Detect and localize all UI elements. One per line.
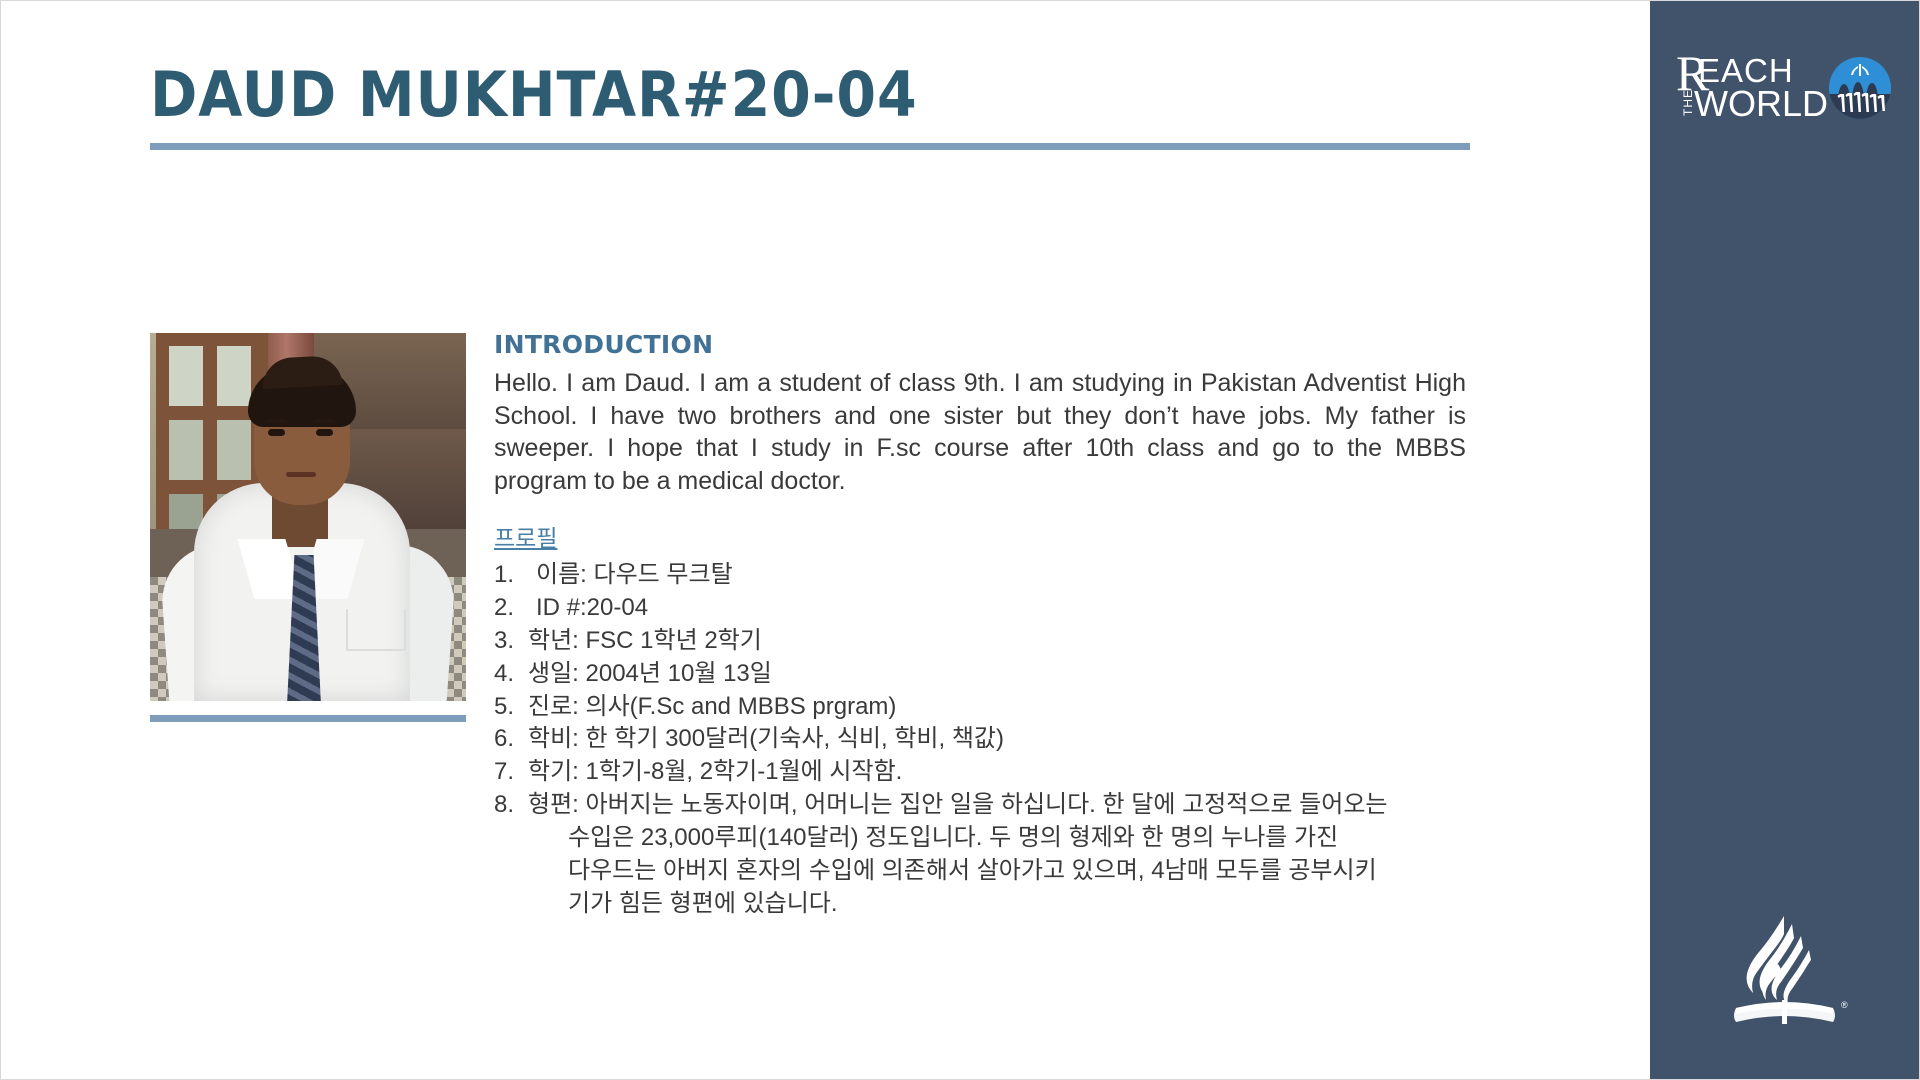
title-block: DAUD MUKHTAR#20-04: [150, 62, 1470, 150]
introduction-heading: INTRODUCTION: [494, 330, 1466, 359]
profile-item-number: 6.: [494, 723, 528, 756]
profile-list-item: 8.형편: 아버지는 노동자이며, 어머니는 집안 일을 하십니다. 한 달에 …: [494, 789, 1466, 822]
profile-item-number: 7.: [494, 756, 528, 789]
profile-item-number: 5.: [494, 691, 528, 724]
profile-item-number: 3.: [494, 625, 528, 658]
profile-item-text: ID #:20-04: [536, 592, 1466, 625]
photo-eye-left: [268, 429, 285, 436]
page-title: DAUD MUKHTAR#20-04: [150, 62, 1364, 127]
profile-item-text: 이름: 다우드 무크탈: [536, 559, 1466, 592]
profile-list-item: 1.이름: 다우드 무크탈: [494, 559, 1466, 592]
profile-item-text: 학년: FSC 1학년 2학기: [528, 625, 1466, 658]
title-underline-rule: [150, 143, 1470, 150]
slide-canvas: R EACH THE WORLD: [0, 0, 1920, 1080]
photo-window-pane: [164, 415, 208, 485]
profile-list: 1.이름: 다우드 무크탈2.ID #:20-043.학년: FSC 1학년 2…: [494, 559, 1466, 921]
content-area: INTRODUCTION Hello. I am Daud. I am a st…: [494, 330, 1466, 921]
profile-item-text: 학비: 한 학기 300달러(기숙사, 식비, 학비, 책값): [528, 723, 1466, 756]
profile-item-text: 생일: 2004년 10월 13일: [528, 658, 1466, 691]
introduction-paragraph: Hello. I am Daud. I am a student of clas…: [494, 367, 1466, 497]
profile-item-text: 수입은 23,000루피(140달러) 정도입니다. 두 명의 형제와 한 명의…: [568, 822, 1466, 855]
globe-people-icon: [1828, 56, 1892, 120]
reach-the-world-wordmark: R EACH THE WORLD: [1676, 52, 1824, 130]
profile-item-number: 4.: [494, 658, 528, 691]
profile-list-item: 7.학기: 1학기-8월, 2학기-1월에 시작함.: [494, 756, 1466, 789]
photo-underline-rule: [150, 715, 466, 722]
profile-item-number: 2.: [494, 592, 536, 625]
profile-list-item: 4.생일: 2004년 10월 13일: [494, 658, 1466, 691]
profile-list-item: 5.진로: 의사(F.Sc and MBBS prgram): [494, 691, 1466, 724]
profile-item-number: 8.: [494, 789, 528, 822]
right-sidebar-panel: R EACH THE WORLD: [1650, 0, 1920, 1080]
profile-item-text: 기가 힘든 형편에 있습니다.: [568, 888, 1466, 921]
profile-item-text: 다우드는 아버지 혼자의 수입에 의존해서 살아가고 있으며, 4남매 모두를 …: [568, 855, 1466, 888]
student-photo: [150, 333, 466, 701]
photo-window-pane: [212, 415, 256, 485]
adventist-flame-logo: ®: [1712, 912, 1857, 1032]
photo-eye-right: [316, 429, 333, 436]
photo-mouth: [286, 472, 316, 477]
profile-item-text: 진로: 의사(F.Sc and MBBS prgram): [528, 691, 1466, 724]
profile-list-item: 기가 힘든 형편에 있습니다.: [494, 888, 1466, 921]
photo-eyebrow-left: [266, 419, 286, 423]
photo-eyebrow-right: [314, 419, 334, 423]
registered-mark: ®: [1841, 1000, 1848, 1010]
profile-list-item: 2.ID #:20-04: [494, 592, 1466, 625]
photo-shirt-pocket: [346, 609, 406, 651]
profile-item-text: 형편: 아버지는 노동자이며, 어머니는 집안 일을 하십니다. 한 달에 고정…: [528, 789, 1466, 822]
profile-list-item: 6.학비: 한 학기 300달러(기숙사, 식비, 학비, 책값): [494, 723, 1466, 756]
logo-word-world: WORLD: [1694, 86, 1828, 122]
reach-the-world-logo: R EACH THE WORLD: [1676, 52, 1891, 130]
photo-block: [150, 333, 466, 722]
profile-list-item: 3.학년: FSC 1학년 2학기: [494, 625, 1466, 658]
photo-window-pane: [164, 341, 208, 411]
profile-item-text: 학기: 1학기-8월, 2학기-1월에 시작함.: [528, 756, 1466, 789]
profile-heading: 프로필: [494, 519, 557, 553]
logo-word-the: THE: [1682, 89, 1694, 116]
profile-list-item: 다우드는 아버지 혼자의 수입에 의존해서 살아가고 있으며, 4남매 모두를 …: [494, 855, 1466, 888]
profile-list-item: 수입은 23,000루피(140달러) 정도입니다. 두 명의 형제와 한 명의…: [494, 822, 1466, 855]
profile-item-number: 1.: [494, 559, 536, 592]
